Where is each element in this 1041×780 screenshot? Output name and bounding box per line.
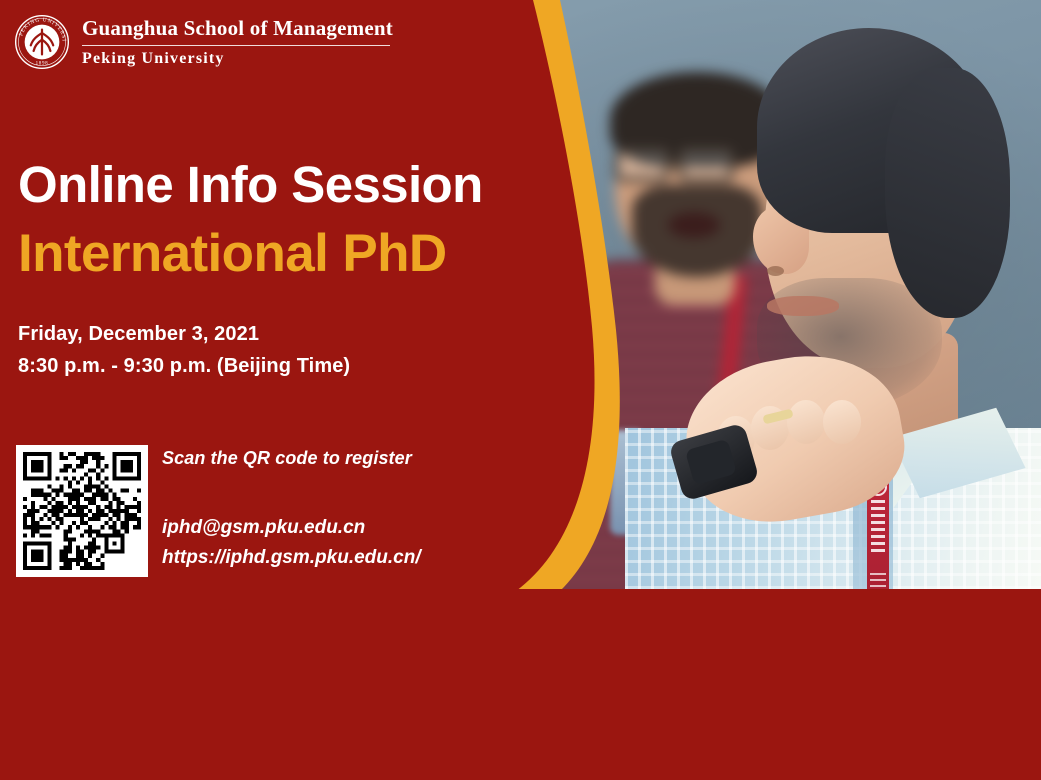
page-title: Online Info Session <box>18 158 483 212</box>
university-name: Peking University <box>82 50 393 68</box>
registration-info: Scan the QR code to register iphd@gsm.pk… <box>162 448 582 574</box>
peking-university-seal-icon: PEKING UNIVERSITY 1898 <box>14 14 70 70</box>
scan-instruction: Scan the QR code to register <box>162 448 582 469</box>
event-datetime: Friday, December 3, 2021 8:30 p.m. - 9:3… <box>18 318 350 382</box>
brand-divider <box>82 45 390 46</box>
event-date: Friday, December 3, 2021 <box>18 318 350 350</box>
poster-content: PEKING UNIVERSITY 1898 Guanghua School o… <box>0 0 620 780</box>
heading-block: Online Info Session International PhD <box>18 158 483 281</box>
brand-lockup: PEKING UNIVERSITY 1898 Guanghua School o… <box>14 12 393 70</box>
event-time: 8:30 p.m. - 9:30 p.m. (Beijing Time) <box>18 350 350 382</box>
page-subtitle: International PhD <box>18 226 483 282</box>
contact-email[interactable]: iphd@gsm.pku.edu.cn <box>162 513 582 543</box>
poster-root: PEKING UNIVERSITY 1898 Guanghua School o… <box>0 0 1041 780</box>
school-name: Guanghua School of Management <box>82 16 393 41</box>
registration-website[interactable]: https://iphd.gsm.pku.edu.cn/ <box>162 543 582 573</box>
qr-code[interactable] <box>16 445 148 577</box>
qr-code-image <box>23 452 141 570</box>
svg-text:1898: 1898 <box>36 60 49 66</box>
qr-code-block[interactable] <box>16 445 148 577</box>
